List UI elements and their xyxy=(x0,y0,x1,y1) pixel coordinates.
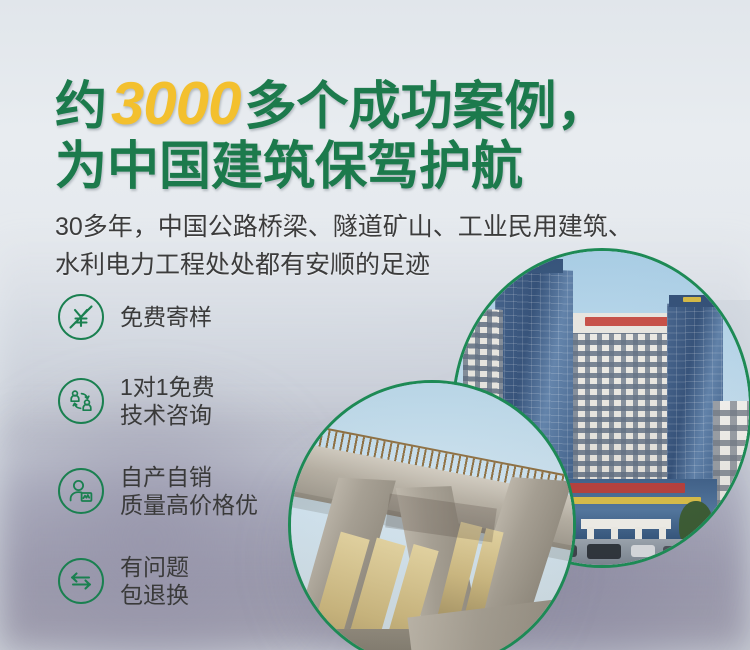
subtitle-line-1: 30多年，中国公路桥梁、隧道矿山、工业民用建筑、 xyxy=(55,208,633,246)
feature-label-line-2: 包退换 xyxy=(120,581,189,609)
self-production-chart-icon xyxy=(58,468,104,514)
subtitle: 30多年，中国公路桥梁、隧道矿山、工业民用建筑、 水利电力工程处处都有安顺的足迹 xyxy=(55,208,633,284)
feature-label-line-2: 质量高价格优 xyxy=(120,491,258,519)
feature-item-exchange: 有问题 包退换 xyxy=(58,552,258,610)
feature-label-free-sample: 免费寄样 xyxy=(120,303,212,331)
feature-list: 免费寄样 1对1免费 技术咨询 xyxy=(58,294,258,610)
headline-suffix: 多个成功案例， xyxy=(245,78,609,136)
feature-label-self-production: 自产自销 质量高价格优 xyxy=(120,463,258,519)
feature-label-line-1: 自产自销 xyxy=(120,463,258,491)
building-car-4 xyxy=(631,545,655,557)
building-podium-red-sign xyxy=(567,483,685,493)
feature-item-free-sample: 免费寄样 xyxy=(58,294,258,340)
one-to-one-consult-icon xyxy=(58,378,104,424)
headline-line-1: 约3000多个成功案例， xyxy=(55,76,609,135)
feature-label-line-1: 1对1免费 xyxy=(120,373,215,401)
promo-banner: 约3000多个成功案例， 为中国建筑保驾护航 30多年，中国公路桥梁、隧道矿山、… xyxy=(0,0,750,650)
feature-label-line-1: 有问题 xyxy=(120,553,189,581)
building-entrance-canopy xyxy=(581,519,671,529)
headline: 约3000多个成功案例， 为中国建筑保驾护航 xyxy=(55,76,609,195)
feature-label-line-2: 技术咨询 xyxy=(120,401,215,429)
headline-number: 3000 xyxy=(107,70,244,137)
no-fee-yuan-icon xyxy=(58,294,104,340)
feature-item-self-production: 自产自销 质量高价格优 xyxy=(58,462,258,520)
exchange-return-icon xyxy=(58,558,104,604)
feature-label-consult: 1对1免费 技术咨询 xyxy=(120,373,215,429)
building-podium-yellow-sign xyxy=(567,497,701,504)
feature-item-consult: 1对1免费 技术咨询 xyxy=(58,372,258,430)
building-center-red-sign xyxy=(585,317,671,326)
bridge-photo xyxy=(288,380,576,650)
building-far-right-block xyxy=(713,401,750,551)
building-car-5 xyxy=(663,546,685,557)
headline-prefix: 约 xyxy=(55,78,107,136)
headline-line-2: 为中国建筑保驾护航 xyxy=(55,139,609,195)
feature-label-exchange: 有问题 包退换 xyxy=(120,553,189,609)
subtitle-line-2: 水利电力工程处处都有安顺的足迹 xyxy=(55,246,633,284)
building-car-3 xyxy=(587,544,621,559)
feature-label-line-1: 免费寄样 xyxy=(120,303,212,331)
building-right-roof-sign xyxy=(683,297,701,302)
